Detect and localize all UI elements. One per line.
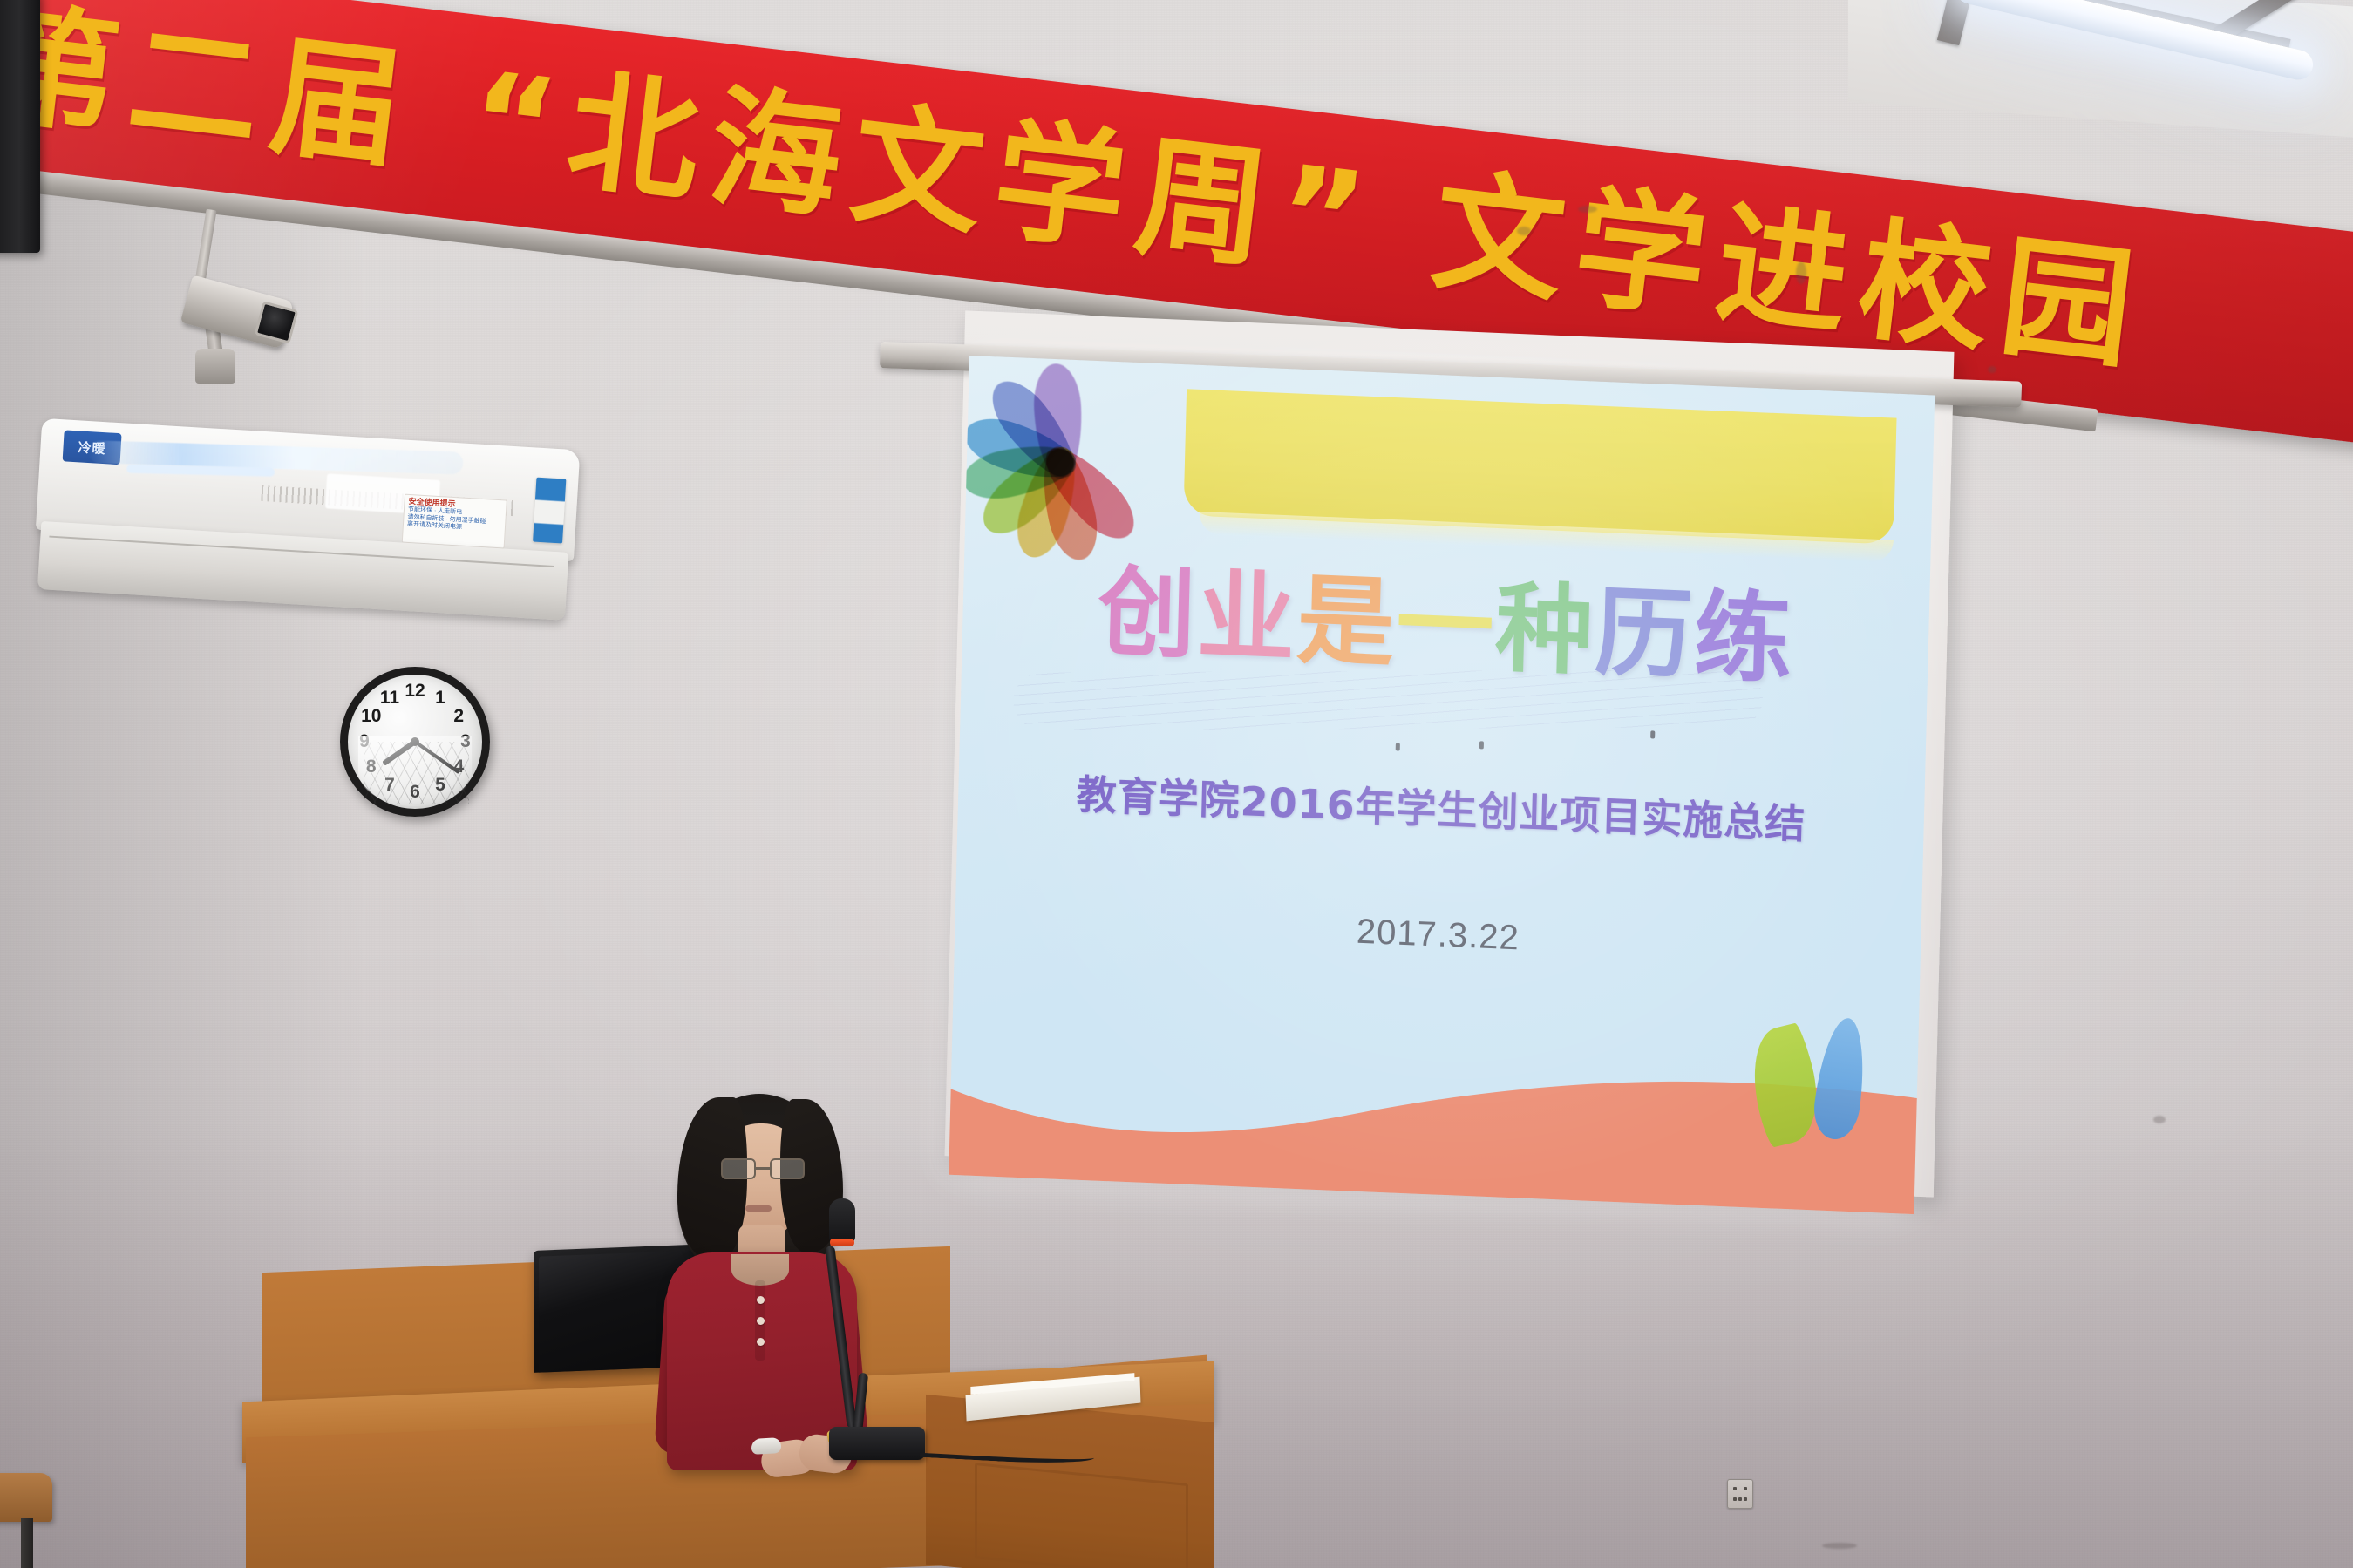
slide-title-char-3: 一 bbox=[1395, 575, 1497, 677]
slide-canvas: 创业是一种历练 教育学院2016年学生创业项目实施总结 2017.3.22 bbox=[949, 356, 1935, 1214]
clock-numeral-12: 12 bbox=[404, 682, 426, 701]
wall-scuff bbox=[1988, 366, 1996, 373]
wall-scuff bbox=[2153, 1116, 2166, 1123]
wall-scuff bbox=[1822, 1543, 1857, 1549]
presenter-mouth bbox=[745, 1205, 772, 1212]
chair-leg bbox=[21, 1518, 33, 1568]
slide-title-char-0: 创 bbox=[1097, 563, 1199, 665]
slide-date: 2017.3.22 bbox=[955, 896, 1921, 974]
clock-numeral-11: 11 bbox=[378, 689, 401, 708]
clock-glass-glare bbox=[358, 736, 471, 806]
computer-mouse[interactable] bbox=[751, 1437, 781, 1455]
wall-scuff bbox=[1796, 261, 1806, 284]
glasses-icon bbox=[721, 1158, 805, 1181]
slide-title-char-5: 历 bbox=[1594, 584, 1696, 686]
glasses-bridge bbox=[756, 1167, 770, 1170]
air-conditioner: 冷暖 安全使用提示 节能环保 · 人走断电 请勿私自拆装 · 勿用湿手触碰 离开… bbox=[32, 418, 581, 624]
slide-subtitle: 教育学院2016年学生创业项目实施总结 bbox=[958, 758, 1925, 855]
gooseneck-microphone[interactable] bbox=[798, 1198, 902, 1460]
mic-capsule bbox=[829, 1198, 855, 1244]
garment-button bbox=[757, 1317, 765, 1325]
clock-numeral-1: 1 bbox=[429, 689, 452, 708]
garment-button bbox=[757, 1338, 765, 1346]
mic-indicator-light bbox=[830, 1239, 854, 1246]
slide-title-char-4: 种 bbox=[1494, 580, 1596, 682]
wall-scuff bbox=[1578, 206, 1597, 213]
slide-header-band bbox=[1183, 389, 1896, 544]
ac-warning-label: 安全使用提示 节能环保 · 人走断电 请勿私自拆装 · 勿用湿手触碰 离开请及时… bbox=[402, 494, 507, 549]
chair-backrest[interactable] bbox=[0, 1473, 52, 1522]
wall-socket[interactable] bbox=[1727, 1479, 1753, 1509]
security-camera bbox=[166, 209, 314, 384]
glasses-lens-left bbox=[721, 1158, 756, 1179]
slide-title-char-6: 练 bbox=[1693, 587, 1795, 689]
slide-title-char-1: 业 bbox=[1196, 567, 1298, 669]
wall-scuff bbox=[1517, 227, 1531, 235]
mic-gooseneck-upper[interactable] bbox=[825, 1246, 857, 1429]
slide-speck bbox=[1650, 730, 1655, 738]
garment-button bbox=[757, 1296, 765, 1304]
slide-speck bbox=[1396, 743, 1400, 750]
ac-energy-label bbox=[533, 478, 566, 544]
lecture-hall-scene: 第二届 “北海文学周” 文学进校园 冷暖 安全使用提示 节能环保 · 人走断电 … bbox=[0, 0, 2353, 1568]
wall-speaker bbox=[0, 0, 40, 253]
slide-title-char-2: 是 bbox=[1296, 572, 1398, 674]
mic-base-unit[interactable] bbox=[829, 1427, 925, 1460]
slide-speck bbox=[1479, 741, 1484, 749]
clock-numeral-2: 2 bbox=[447, 707, 470, 726]
wall-clock: 121234567891011 bbox=[340, 667, 490, 817]
camera-base bbox=[195, 349, 235, 384]
projected-slide: 创业是一种历练 教育学院2016年学生创业项目实施总结 2017.3.22 bbox=[949, 356, 1935, 1214]
clock-numeral-10: 10 bbox=[360, 707, 383, 726]
glasses-lens-right bbox=[770, 1158, 805, 1179]
